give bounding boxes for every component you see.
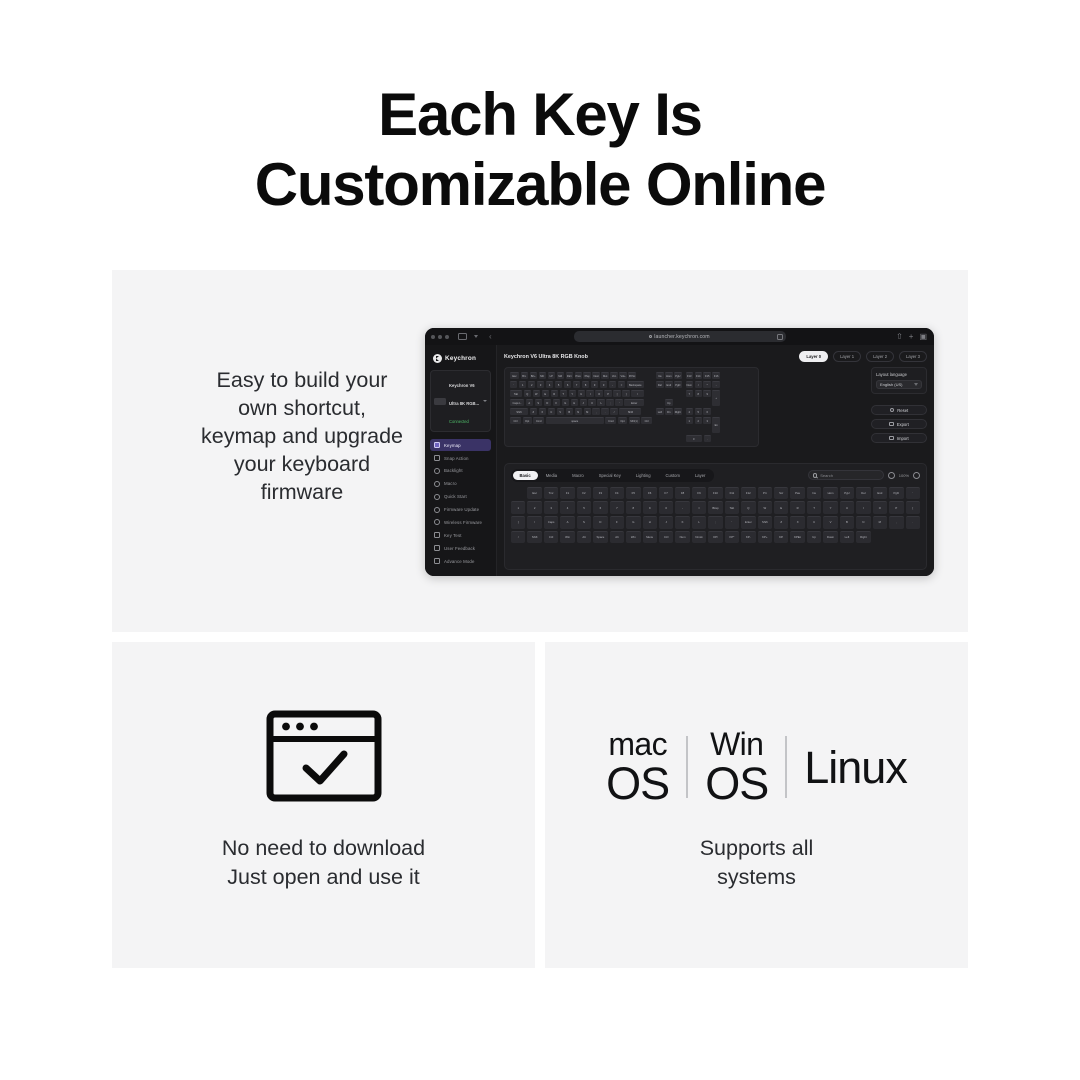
- refresh-icon[interactable]: [777, 334, 783, 340]
- key[interactable]: Del: [656, 381, 663, 388]
- key[interactable]: ': [615, 399, 622, 406]
- palette-key[interactable]: KPEn: [790, 531, 804, 544]
- keyboard-row: Left Dn Right: [656, 408, 681, 415]
- palette-key[interactable]: 6: [593, 501, 607, 514]
- key[interactable]: 4: [546, 381, 553, 388]
- palette-key[interactable]: `: [906, 487, 920, 500]
- palette-key[interactable]: 2: [527, 501, 541, 514]
- key[interactable]: S: [535, 399, 542, 406]
- key[interactable]: Hom: [665, 372, 672, 379]
- key[interactable]: 8: [582, 381, 589, 388]
- palette-key[interactable]: 8: [626, 501, 640, 514]
- key[interactable]: A: [526, 399, 533, 406]
- no-download-caption-line-1: No need to download: [112, 834, 535, 863]
- palette-key[interactable]: P: [889, 501, 903, 514]
- palette-key[interactable]: ]: [511, 516, 525, 529]
- key-blank: [656, 390, 663, 397]
- key[interactable]: 3: [537, 381, 544, 388]
- os-badge-macos-top: mac: [608, 728, 667, 761]
- key-palette-tools: Search 100%: [808, 470, 920, 480]
- key-rctrl[interactable]: Ctrl: [641, 417, 652, 424]
- palette-key[interactable]: KP-: [741, 531, 755, 544]
- key[interactable]: *: [703, 381, 710, 388]
- palette-key[interactable]: ': [725, 516, 739, 529]
- sidebar-item-label: User Feedback: [444, 546, 475, 551]
- palette-key[interactable]: Menu: [643, 531, 657, 544]
- palette-key[interactable]: H: [643, 516, 657, 529]
- key[interactable]: I: [586, 390, 593, 397]
- key[interactable]: 6: [703, 408, 710, 415]
- sidebar-item-label: Firmware Update: [444, 507, 479, 512]
- sidebar-item-key-test[interactable]: Key Test: [430, 529, 491, 541]
- browser-chrome-bar: ‹ launcher.keychron.com ⇧ + ▣: [425, 328, 934, 345]
- palette-key[interactable]: Ctrl: [659, 531, 673, 544]
- key-backslash[interactable]: \: [631, 390, 643, 397]
- palette-key[interactable]: NmLk: [692, 531, 706, 544]
- palette-key[interactable]: /: [511, 531, 525, 544]
- device-name: Keychron V6 Ultra 8K RGB...: [449, 383, 479, 406]
- device-info: Keychron V6 Ultra 8K RGB... Connected: [449, 374, 480, 428]
- palette-key[interactable]: F7: [659, 487, 673, 500]
- keyboard-row: 4 5 6: [686, 408, 720, 415]
- sidebar-item-quick-start[interactable]: Quick Start: [430, 491, 491, 503]
- palette-key[interactable]: G: [626, 516, 640, 529]
- palette-key[interactable]: F5: [626, 487, 640, 500]
- palette-key[interactable]: U: [840, 501, 854, 514]
- device-selector[interactable]: Keychron V6 Ultra 8K RGB... Connected: [430, 370, 491, 432]
- palette-key[interactable]: \: [527, 516, 541, 529]
- key-lopt[interactable]: Opt: [523, 417, 532, 424]
- keyboard-layout-preview[interactable]: Esc Bri- Bri+ MC LP Md Dict Prev Play Ne…: [504, 367, 759, 447]
- key-palette-row: 1 2 3 4 5 6 7 8 9 0 - = Bksp: [511, 501, 920, 514]
- palette-key[interactable]: KP*: [725, 531, 739, 544]
- key[interactable]: Play: [583, 372, 590, 379]
- launcher-description-line-3: keymap and upgrade: [152, 422, 452, 450]
- key-numpad-dot[interactable]: .: [704, 435, 711, 442]
- export-button[interactable]: Export: [871, 419, 927, 429]
- brand-logo: Keychron: [430, 351, 491, 370]
- keymap-icon: [434, 442, 440, 448]
- key[interactable]: F13: [686, 372, 693, 379]
- palette-key[interactable]: PgD: [889, 487, 903, 500]
- key[interactable]: Ins: [656, 372, 663, 379]
- key[interactable]: .: [601, 408, 608, 415]
- address-bar-url: launcher.keychron.com: [654, 334, 709, 340]
- key[interactable]: V: [557, 408, 564, 415]
- key-rshift[interactable]: Shift: [619, 408, 641, 415]
- palette-key[interactable]: =: [692, 501, 706, 514]
- key[interactable]: `: [510, 381, 517, 388]
- reset-button-label: Reset: [897, 408, 908, 413]
- key-backspace[interactable]: Backspace: [627, 381, 644, 388]
- palette-key[interactable]: Scr: [774, 487, 788, 500]
- layout-language-select[interactable]: English (US): [876, 380, 922, 389]
- palette-key[interactable]: Win: [560, 531, 574, 544]
- key[interactable]: W: [533, 390, 540, 397]
- launcher-description: Easy to build your own shortcut, keymap …: [152, 366, 452, 506]
- key[interactable]: 2: [695, 417, 702, 424]
- reset-button[interactable]: Reset: [871, 405, 927, 415]
- palette-key[interactable]: 9: [643, 501, 657, 514]
- export-icon: [889, 422, 894, 427]
- key-capslock[interactable]: Caps L.: [510, 399, 524, 406]
- key-palette-row: Esc Tmr F1 F2 F3 F4 F5 F6 F7 F8 F9 F10: [511, 487, 920, 500]
- key[interactable]: 2: [528, 381, 535, 388]
- key[interactable]: 0: [600, 381, 607, 388]
- key-tab[interactable]: Tab: [510, 390, 522, 397]
- palette-key[interactable]: -: [675, 501, 689, 514]
- key-numpad-enter[interactable]: En: [712, 417, 719, 433]
- key-palette: Basic Media Macro Special Key Lighting C…: [504, 463, 927, 570]
- palette-key[interactable]: Right: [856, 531, 870, 544]
- search-input[interactable]: Search: [808, 470, 884, 480]
- palette-key[interactable]: ;: [708, 516, 722, 529]
- sidebar-item-user-feedback[interactable]: User Feedback: [430, 542, 491, 554]
- palette-key[interactable]: Win: [626, 531, 640, 544]
- page-title-line-1: Each Key Is: [0, 80, 1080, 150]
- layer-tab-3[interactable]: Layer 3: [899, 351, 927, 362]
- palette-key[interactable]: D: [593, 516, 607, 529]
- tab-media[interactable]: Media: [539, 471, 564, 481]
- tab-basic[interactable]: Basic: [513, 471, 538, 481]
- palette-key[interactable]: 5: [577, 501, 591, 514]
- palette-key[interactable]: F3: [593, 487, 607, 500]
- palette-key[interactable]: I: [856, 501, 870, 514]
- key[interactable]: M: [584, 408, 591, 415]
- palette-key[interactable]: Shift: [527, 531, 541, 544]
- sidebar-item-label: Keymap: [444, 443, 461, 448]
- key-palette-grid: Esc Tmr F1 F2 F3 F4 F5 F6 F7 F8 F9 F10: [511, 487, 920, 543]
- key[interactable]: Bri-: [521, 372, 528, 379]
- key[interactable]: J: [580, 399, 587, 406]
- key[interactable]: F: [553, 399, 560, 406]
- zoom-in-icon[interactable]: [913, 472, 920, 479]
- palette-key[interactable]: Enter: [741, 516, 755, 529]
- palette-key[interactable]: KP+: [758, 531, 772, 544]
- key[interactable]: 8: [695, 390, 702, 397]
- palette-key[interactable]: Caps: [544, 516, 558, 529]
- key-numlock[interactable]: Num: [686, 381, 693, 388]
- palette-key: [906, 531, 920, 544]
- key[interactable]: ,: [592, 408, 599, 415]
- key[interactable]: Mut: [601, 372, 608, 379]
- palette-key[interactable]: Alt: [577, 531, 591, 544]
- tab-layer[interactable]: Layer: [688, 471, 712, 481]
- palette-key[interactable]: F2: [577, 487, 591, 500]
- sidebar-item-keymap[interactable]: Keymap: [430, 439, 491, 451]
- share-icon[interactable]: ⇧: [896, 333, 903, 341]
- key[interactable]: Y: [569, 390, 576, 397]
- palette-key[interactable]: E: [774, 501, 788, 514]
- key[interactable]: F15: [703, 372, 710, 379]
- keychron-logo-icon: [433, 354, 442, 363]
- chevron-down-icon[interactable]: [474, 335, 478, 338]
- sidebar-item-backlight[interactable]: Backlight: [430, 465, 491, 477]
- key[interactable]: =: [618, 381, 625, 388]
- palette-key[interactable]: Bksp: [708, 501, 722, 514]
- key[interactable]: P: [604, 390, 611, 397]
- key-palette-row: ] \ Caps A S D F G H J K L ;: [511, 516, 920, 529]
- key[interactable]: D: [544, 399, 551, 406]
- sidebar-item-label: Snap Action: [444, 456, 469, 461]
- os-badge-winos-top: Win: [710, 728, 763, 761]
- palette-key: [873, 531, 887, 544]
- palette-key[interactable]: Tab: [725, 501, 739, 514]
- reset-icon: [890, 408, 895, 413]
- key[interactable]: -: [712, 381, 719, 388]
- key[interactable]: T: [560, 390, 567, 397]
- key-enter[interactable]: Enter: [624, 399, 644, 406]
- tabs-icon[interactable]: ▣: [919, 333, 927, 341]
- key-right[interactable]: Right: [674, 408, 681, 415]
- key-blank: [674, 390, 681, 397]
- key-ropt[interactable]: Opt: [618, 417, 627, 424]
- palette-key[interactable]: Del: [856, 487, 870, 500]
- key[interactable]: K: [588, 399, 595, 406]
- palette-key[interactable]: X: [790, 516, 804, 529]
- key[interactable]: ]: [622, 390, 629, 397]
- palette-key[interactable]: M: [873, 516, 887, 529]
- sidebar-item-snap-action[interactable]: Snap Action: [430, 452, 491, 464]
- key[interactable]: R: [551, 390, 558, 397]
- key[interactable]: L: [597, 399, 604, 406]
- key[interactable]: Next: [592, 372, 599, 379]
- address-bar[interactable]: launcher.keychron.com: [574, 331, 786, 342]
- palette-key[interactable]: V: [823, 516, 837, 529]
- key[interactable]: N: [575, 408, 582, 415]
- key[interactable]: Bri+: [530, 372, 537, 379]
- key[interactable]: 1: [519, 381, 526, 388]
- key[interactable]: /: [610, 408, 617, 415]
- key[interactable]: PgU: [674, 372, 681, 379]
- palette-key[interactable]: C: [807, 516, 821, 529]
- os-badge-winos-bottom: OS: [705, 761, 768, 806]
- os-badge-macos: mac OS: [606, 728, 669, 806]
- key-lctrl[interactable]: Ctrl: [510, 417, 521, 424]
- palette-key[interactable]: F8: [675, 487, 689, 500]
- window-traffic-lights[interactable]: [431, 335, 449, 339]
- palette-key[interactable]: Alt: [610, 531, 624, 544]
- key-down[interactable]: Dn: [665, 408, 672, 415]
- back-arrow-icon[interactable]: ‹: [489, 333, 492, 341]
- palette-key[interactable]: Prt: [758, 487, 772, 500]
- palette-key[interactable]: B: [840, 516, 854, 529]
- sidebar-item-macro[interactable]: Macro: [430, 478, 491, 490]
- snap-action-icon: [434, 455, 440, 461]
- palette-key[interactable]: L: [692, 516, 706, 529]
- key-numpad-plus[interactable]: +: [712, 390, 719, 406]
- layer-tab-1[interactable]: Layer 1: [833, 351, 861, 362]
- palette-key[interactable]: Up: [807, 531, 821, 544]
- key[interactable]: H: [571, 399, 578, 406]
- launcher-description-line-4: your keyboard: [152, 450, 452, 478]
- key-up[interactable]: Up: [665, 399, 672, 406]
- key[interactable]: 7: [686, 390, 693, 397]
- sidebar-item-wireless-firmware[interactable]: Wireless Firmware: [430, 516, 491, 528]
- key[interactable]: X: [539, 408, 546, 415]
- key[interactable]: 9: [591, 381, 598, 388]
- tab-macro[interactable]: Macro: [565, 471, 591, 481]
- keyboard-row: Up: [656, 399, 681, 406]
- palette-key[interactable]: T: [807, 501, 821, 514]
- sidebar-item-advance-mode[interactable]: Advance Mode: [430, 555, 491, 567]
- key-palette-toolbar: Basic Media Macro Special Key Lighting C…: [511, 469, 920, 482]
- palette-key[interactable]: N: [856, 516, 870, 529]
- key[interactable]: Q: [524, 390, 531, 397]
- key[interactable]: MC: [539, 372, 546, 379]
- palette-key[interactable]: J: [659, 516, 673, 529]
- key-rcmd[interactable]: Cmd: [605, 417, 616, 424]
- key-left[interactable]: Left: [656, 408, 663, 415]
- key[interactable]: LP: [548, 372, 555, 379]
- palette-key[interactable]: F10: [708, 487, 722, 500]
- palette-key[interactable]: ,: [889, 516, 903, 529]
- palette-key[interactable]: 0: [659, 501, 673, 514]
- palette-key[interactable]: Z: [774, 516, 788, 529]
- key[interactable]: B: [566, 408, 573, 415]
- palette-key[interactable]: Hom: [823, 487, 837, 500]
- key[interactable]: 9: [703, 390, 710, 397]
- import-icon: [889, 436, 894, 441]
- tab-special-key[interactable]: Special Key: [592, 471, 628, 481]
- palette-key[interactable]: KP/: [708, 531, 722, 544]
- key-lshift[interactable]: Shift: [510, 408, 528, 415]
- key[interactable]: 1: [686, 417, 693, 424]
- palette-key[interactable]: Shift: [758, 516, 772, 529]
- keyboard-numpad-block: F13 F14 F15 F16 Num / * -: [686, 372, 720, 442]
- page-title-line-2: Customizable Online: [0, 150, 1080, 220]
- key[interactable]: Md: [557, 372, 564, 379]
- key[interactable]: O: [595, 390, 602, 397]
- keyboard-row: Ctrl Opt Cmd space Cmd Opt MO(1) Ctrl: [510, 417, 652, 424]
- key[interactable]: PgD: [674, 381, 681, 388]
- palette-key[interactable]: PgU: [840, 487, 854, 500]
- key[interactable]: 6: [564, 381, 571, 388]
- palette-key[interactable]: W: [758, 501, 772, 514]
- supported-systems-caption-line-1: Supports all: [545, 834, 968, 863]
- palette-key[interactable]: F1: [560, 487, 574, 500]
- layer-tab-0[interactable]: Layer 0: [799, 351, 828, 362]
- feature-card-supported-systems: mac OS Win OS Linux Supports all systems: [545, 642, 968, 968]
- palette-key[interactable]: 1: [511, 501, 525, 514]
- key[interactable]: Esc: [510, 372, 519, 379]
- keyboard-row: Caps L. A S D F G H J K L ;: [510, 399, 652, 406]
- palette-key[interactable]: Pau: [790, 487, 804, 500]
- sidebar-item-firmware-update[interactable]: Firmware Update: [430, 503, 491, 515]
- key[interactable]: E: [542, 390, 549, 397]
- key[interactable]: /: [695, 381, 702, 388]
- palette-key[interactable]: F6: [643, 487, 657, 500]
- tab-custom[interactable]: Custom: [659, 471, 687, 481]
- palette-key[interactable]: Y: [823, 501, 837, 514]
- palette-key[interactable]: [: [906, 501, 920, 514]
- import-button[interactable]: Import: [871, 433, 927, 443]
- key-test-icon: [434, 532, 440, 538]
- palette-key[interactable]: A: [560, 516, 574, 529]
- palette-key[interactable]: KP.: [774, 531, 788, 544]
- key-lcmd[interactable]: Cmd: [533, 417, 544, 424]
- palette-key[interactable]: End: [873, 487, 887, 500]
- palette-key[interactable]: K: [675, 516, 689, 529]
- palette-key[interactable]: Ins: [807, 487, 821, 500]
- keyboard-row: F13 F14 F15 F16: [686, 372, 720, 379]
- key[interactable]: [: [613, 390, 620, 397]
- palette-key[interactable]: F: [610, 516, 624, 529]
- palette-key[interactable]: 7: [610, 501, 624, 514]
- key[interactable]: Dict: [566, 372, 573, 379]
- key[interactable]: End: [665, 381, 672, 388]
- chevron-down-icon[interactable]: [483, 400, 487, 402]
- layout-language-value: English (US): [880, 382, 902, 387]
- tab-lighting[interactable]: Lighting: [629, 471, 658, 481]
- palette-key[interactable]: Esc: [527, 487, 541, 500]
- palette-key[interactable]: F12: [741, 487, 755, 500]
- key[interactable]: Vol+: [619, 372, 626, 379]
- palette-key[interactable]: 3: [544, 501, 558, 514]
- key[interactable]: 7: [573, 381, 580, 388]
- keyboard-row: Ins Hom PgU: [656, 372, 681, 379]
- launcher-main: Keychron V6 Ultra 8K RGB Knob Layer 0 La…: [497, 345, 934, 576]
- key[interactable]: G: [562, 399, 569, 406]
- key[interactable]: C: [548, 408, 555, 415]
- palette-key[interactable]: S: [577, 516, 591, 529]
- zoom-out-icon[interactable]: [888, 472, 895, 479]
- palette-key[interactable]: F4: [610, 487, 624, 500]
- key[interactable]: Prev: [575, 372, 582, 379]
- palette-key[interactable]: Space: [593, 531, 607, 544]
- key[interactable]: ;: [606, 399, 613, 406]
- palette-key[interactable]: 4: [560, 501, 574, 514]
- palette-key[interactable]: F9: [692, 487, 706, 500]
- keyboard-title: Keychron V6 Ultra 8K RGB Knob: [504, 354, 588, 360]
- key[interactable]: Z: [530, 408, 537, 415]
- key[interactable]: F16: [712, 372, 719, 379]
- palette-key[interactable]: R: [790, 501, 804, 514]
- palette-key[interactable]: .: [906, 516, 920, 529]
- key-blank: [656, 399, 663, 406]
- plus-icon[interactable]: +: [909, 333, 914, 341]
- key[interactable]: 5: [555, 381, 562, 388]
- sidebar-item-label: Key Test: [444, 533, 462, 538]
- palette-key[interactable]: Down: [823, 531, 837, 544]
- key[interactable]: 4: [686, 408, 693, 415]
- key-mo1[interactable]: MO(1): [629, 417, 640, 424]
- palette-key[interactable]: Ctrl: [544, 531, 558, 544]
- sidebar-toggle-icon[interactable]: [458, 333, 467, 340]
- palette-key[interactable]: F11: [725, 487, 739, 500]
- key[interactable]: 3: [703, 417, 710, 424]
- key-space[interactable]: space: [546, 417, 604, 424]
- os-badge-winos: Win OS: [705, 728, 768, 806]
- key[interactable]: 5: [695, 408, 702, 415]
- palette-key[interactable]: Q: [741, 501, 755, 514]
- key-numpad-zero[interactable]: 0: [686, 435, 702, 442]
- key[interactable]: F14: [695, 372, 702, 379]
- palette-key[interactable]: Num: [675, 531, 689, 544]
- zoom-level: 100%: [899, 473, 909, 478]
- key[interactable]: PrtSc: [628, 372, 635, 379]
- keyboard-row: Num / * -: [686, 381, 720, 388]
- layer-tab-2[interactable]: Layer 2: [866, 351, 894, 362]
- key[interactable]: -: [609, 381, 616, 388]
- key[interactable]: Vol-: [610, 372, 617, 379]
- sidebar-item-label: Macro: [444, 481, 457, 486]
- palette-key[interactable]: O: [873, 501, 887, 514]
- key[interactable]: U: [578, 390, 585, 397]
- palette-key[interactable]: Left: [840, 531, 854, 544]
- backlight-icon: [434, 468, 440, 474]
- palette-key[interactable]: Tmr: [544, 487, 558, 500]
